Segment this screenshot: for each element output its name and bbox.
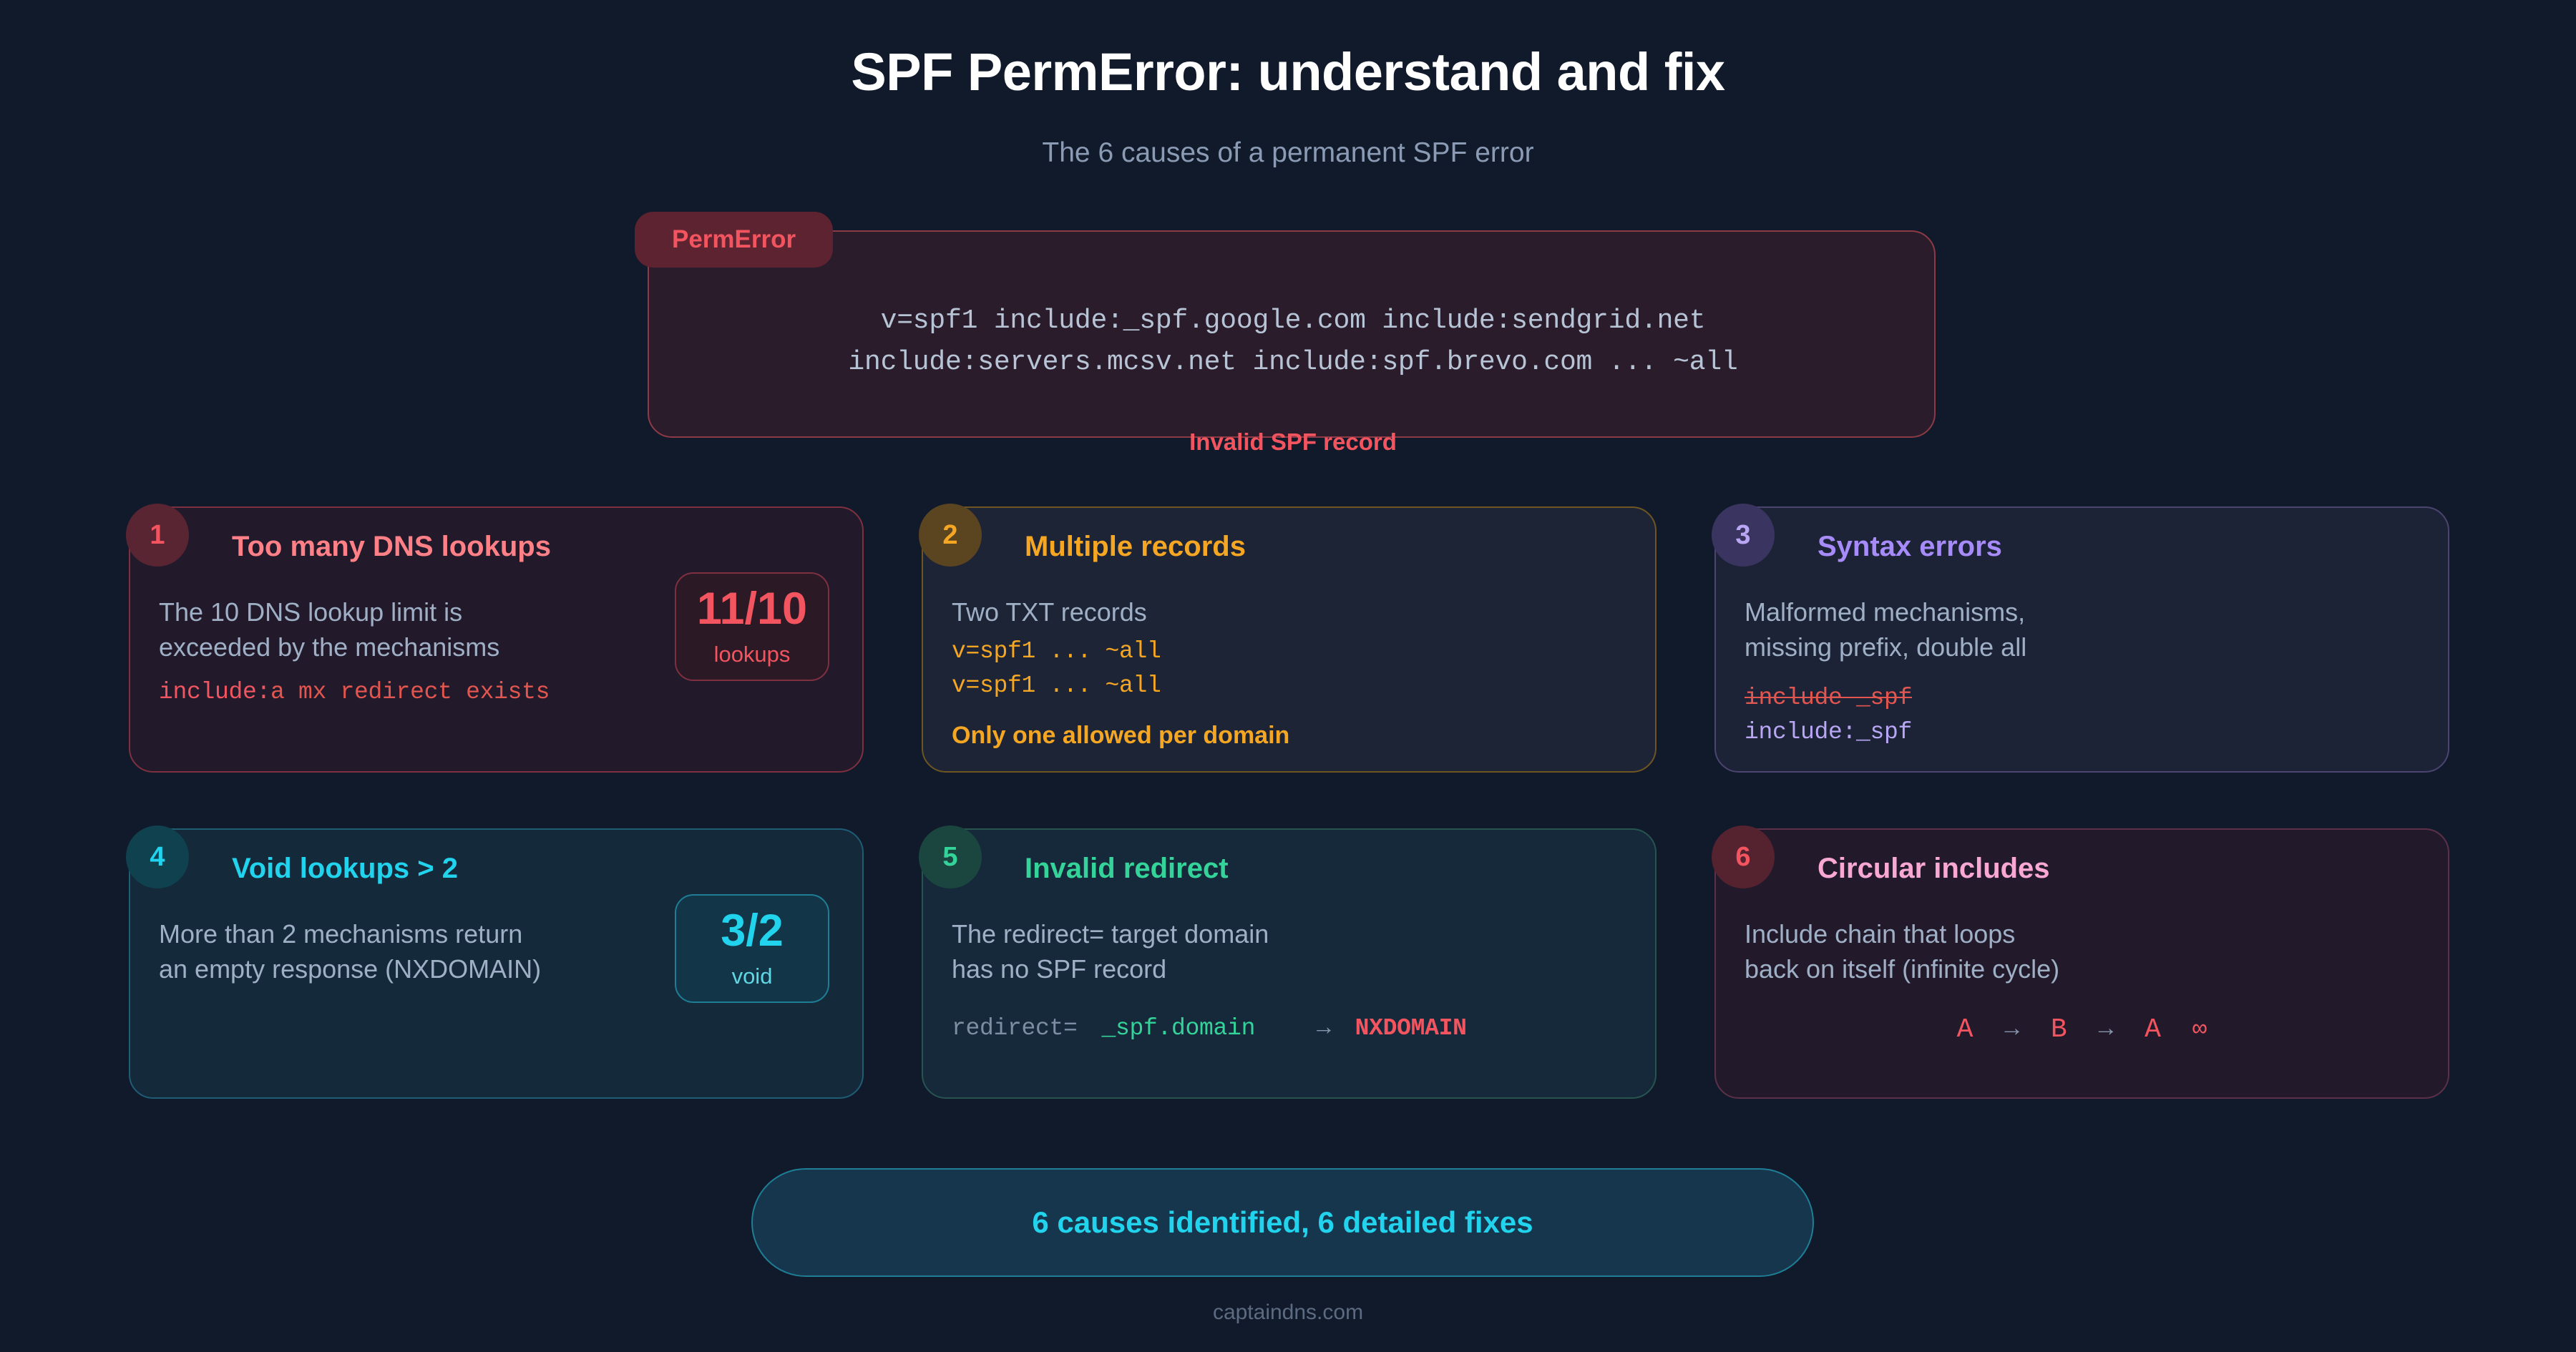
cause-body-2: Two TXT records v=spf1 ... ~all v=spf1 .… [952,595,1289,752]
cause-body-5: The redirect= target domain has no SPF r… [952,917,1467,1046]
cause-body-3-line-1: Malformed mechanisms, [1745,595,2026,630]
cause-card-5: 5 Invalid redirect The redirect= target … [922,828,1657,1099]
chain-node-a2: A [2145,1014,2161,1045]
cause-card-4: 4 Void lookups > 2 More than 2 mechanism… [129,828,864,1099]
cause-body-3: Malformed mechanisms, missing prefix, do… [1745,595,2026,750]
arrow-right-icon: → [1317,1011,1331,1046]
cause-card-3: 3 Syntax errors Malformed mechanisms, mi… [1714,506,2449,773]
cause-number-badge-3: 3 [1712,504,1775,567]
cause-title-6: Circular includes [1818,853,2050,885]
infinity-icon: ∞ [2192,1017,2207,1044]
cause-body-6: Include chain that loops back on itself … [1745,917,2059,987]
cause-code-5-value: _spf.domain [1102,1011,1256,1046]
cause-body-1-line-1: The 10 DNS lookup limit is [159,595,550,630]
stat-label-lookups: lookups [714,642,791,667]
cause-code-1-keyword: include: [159,675,270,710]
cause-title-3: Syntax errors [1818,531,2002,563]
cause-title-5: Invalid redirect [1025,853,1229,885]
cause-body-4: More than 2 mechanisms return an empty r… [159,917,541,987]
invalid-record-note: Invalid SPF record [649,428,1937,456]
cause-code-5: redirect= _spf.domain → NXDOMAIN [952,1011,1467,1046]
cause-title-2: Multiple records [1025,531,1246,563]
cause-body-1-line-2: exceeded by the mechanisms [159,630,550,665]
cause-code-5-result: NXDOMAIN [1355,1011,1467,1046]
cause-note-2: Only one allowed per domain [952,719,1289,752]
cause-code-1: include: a mx redirect exists [159,675,550,710]
permerror-status-badge: PermError [635,212,833,268]
cause-number-badge-5: 5 [919,826,982,888]
cause-number-badge-4: 4 [126,826,189,888]
cause-number-badge-1: 1 [126,504,189,567]
cause-code-2-line-1: v=spf1 ... ~all [952,635,1289,669]
chain-node-a1: A [1957,1014,1974,1045]
stat-box-lookups: 11/10 lookups [675,572,829,681]
cause-card-6: 6 Circular includes Include chain that l… [1714,828,2449,1099]
spf-record-line-1: v=spf1 include:_spf.google.com include:s… [649,300,1937,342]
spf-record-preview: v=spf1 include:_spf.google.com include:s… [649,300,1937,383]
cause-number-badge-6: 6 [1712,826,1775,888]
cause-code-2-line-2: v=spf1 ... ~all [952,669,1289,703]
page-title: SPF PermError: understand and fix [0,41,2576,102]
cause-code-3-valid: include:_spf [1745,715,2026,750]
permerror-banner: PermError v=spf1 include:_spf.google.com… [648,230,1936,438]
cause-card-1: 1 Too many DNS lookups The 10 DNS lookup… [129,506,864,773]
summary-text: 6 causes identified, 6 detailed fixes [1032,1205,1533,1240]
stat-number-void: 3/2 [721,908,784,954]
cause-code-3-invalid: include _spf [1745,681,2026,715]
summary-bar: 6 causes identified, 6 detailed fixes [751,1168,1814,1277]
cause-body-5-line-2: has no SPF record [952,952,1467,987]
cause-body-3-line-2: missing prefix, double all [1745,630,2026,665]
cause-body-4-line-1: More than 2 mechanisms return [159,917,541,952]
site-credit: captaindns.com [0,1300,2576,1325]
spf-record-line-2: include:servers.mcsv.net include:spf.bre… [649,342,1937,383]
cause-card-2: 2 Multiple records Two TXT records v=spf… [922,506,1657,773]
stat-box-void: 3/2 void [675,894,829,1003]
cause-code-5-key: redirect= [952,1011,1078,1046]
cause-title-1: Too many DNS lookups [232,531,551,563]
chain-arrow-icon-1: → [2004,1017,2019,1044]
stat-label-void: void [732,964,773,989]
infographic-root: SPF PermError: understand and fix The 6 … [0,0,2576,1352]
stat-number-lookups: 11/10 [697,587,807,632]
cause-number-badge-2: 2 [919,504,982,567]
cause-body-6-line-1: Include chain that loops [1745,917,2059,952]
chain-node-b: B [2051,1014,2067,1045]
cause-body-2-line-1: Two TXT records [952,595,1289,630]
page-subtitle: The 6 causes of a permanent SPF error [0,137,2576,169]
cause-body-5-line-1: The redirect= target domain [952,917,1467,952]
cause-body-1: The 10 DNS lookup limit is exceeded by t… [159,595,550,710]
cause-title-4: Void lookups > 2 [232,853,458,885]
include-chain-diagram: A → B → A ∞ [1716,1014,2448,1045]
chain-arrow-icon-2: → [2099,1017,2113,1044]
cause-code-1-mechanisms: a mx redirect exists [270,675,550,710]
cause-body-4-line-2: an empty response (NXDOMAIN) [159,952,541,987]
cause-body-6-line-2: back on itself (infinite cycle) [1745,952,2059,987]
